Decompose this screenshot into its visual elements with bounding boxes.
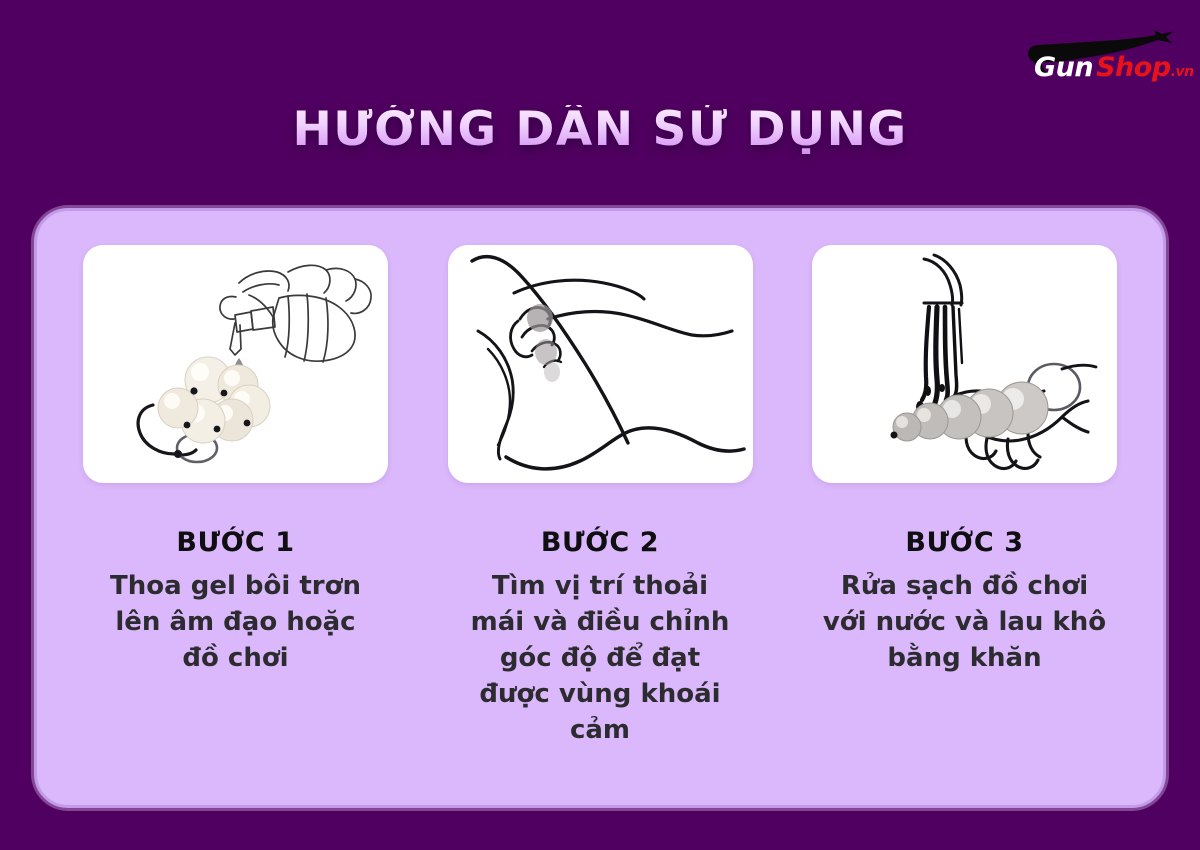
- step-card-2: BƯỚC 2 Tìm vị trí thoải mái và điều chỉn…: [448, 245, 753, 748]
- step-1-body: Thoa gel bôi trơn lên âm đạo hoặc đồ chơ…: [101, 569, 371, 677]
- gunshop-logo[interactable]: GunShop.vn: [1006, 18, 1182, 90]
- step-2-heading: BƯỚC 2: [541, 527, 659, 558]
- step-3-heading: BƯỚC 3: [905, 527, 1023, 558]
- step-2-body: Tìm vị trí thoải mái và điều chỉnh góc đ…: [469, 569, 731, 748]
- logo-word-shop: Shop: [1096, 52, 1171, 83]
- step-card-1: BƯỚC 1 Thoa gel bôi trơn lên âm đạo hoặc…: [83, 245, 388, 677]
- hand-squeezing-lubricant-bottle-onto-pearl-beads-icon: [83, 245, 388, 483]
- reclining-body-hand-positioning-icon: [448, 245, 753, 483]
- logo-wordmark: GunShop.vn: [1034, 54, 1194, 81]
- step-card-3: BƯỚC 3 Rửa sạch đồ chơi với nước và lau …: [812, 245, 1117, 677]
- page-title: HƯỚNG DẪN SỬ DỤNG: [0, 105, 1200, 154]
- steps-panel: BƯỚC 1 Thoa gel bôi trơn lên âm đạo hoặc…: [34, 208, 1166, 808]
- step-2-illustration: [448, 245, 753, 483]
- step-3-body: Rửa sạch đồ chơi với nước và lau khô bằn…: [819, 569, 1111, 677]
- faucet-water-rinsing-beads-in-hand-icon: [812, 245, 1117, 483]
- logo-word-tld: .vn: [1171, 64, 1194, 80]
- pearl-beads-icon: [158, 357, 270, 443]
- step-1-illustration: [83, 245, 388, 483]
- step-1-heading: BƯỚC 1: [176, 527, 294, 558]
- logo-word-gun: Gun: [1034, 52, 1093, 83]
- step-3-illustration: [812, 245, 1117, 483]
